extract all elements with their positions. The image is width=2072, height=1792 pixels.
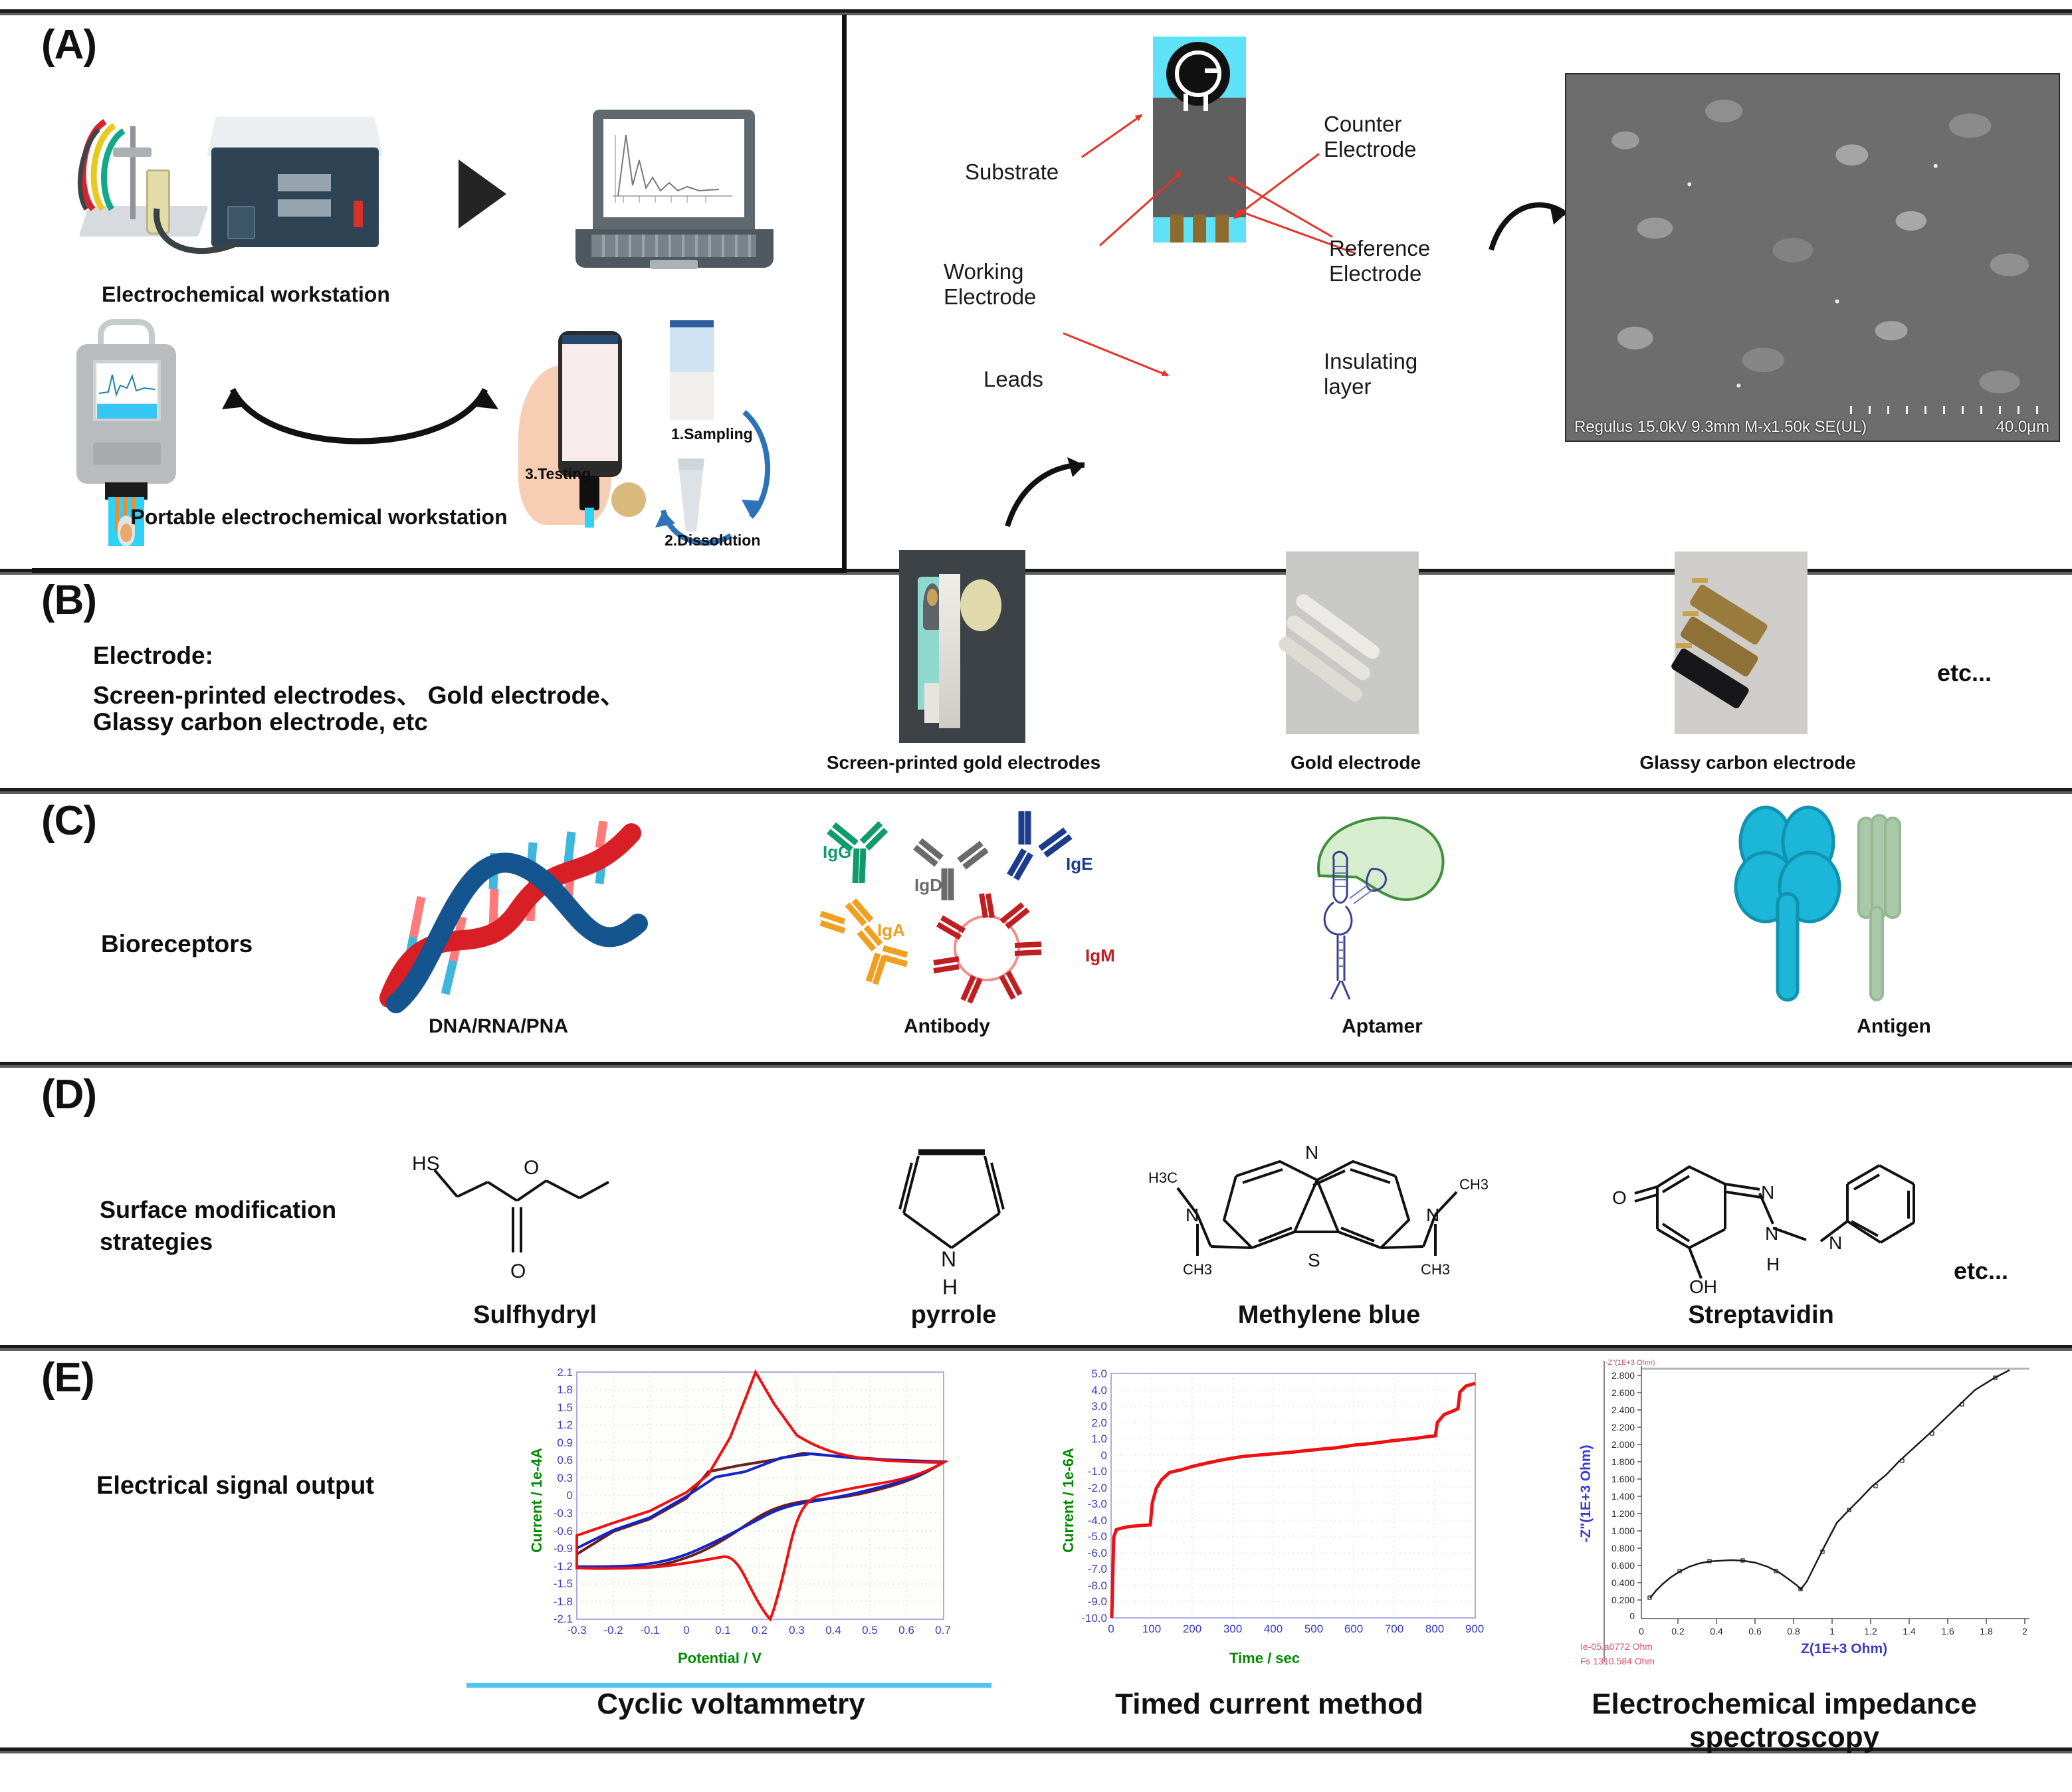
svg-text:-1.2: -1.2 [554,1560,573,1573]
cv-underline [466,1683,991,1688]
caption-streptavidin: Streptavidin [1641,1301,1881,1330]
svg-text:-0.3: -0.3 [567,1624,586,1637]
svg-text:CH3: CH3 [1459,1176,1489,1193]
svg-text:0.6: 0.6 [557,1454,573,1466]
svg-text:2.1: 2.1 [557,1366,573,1379]
svg-text:0.6: 0.6 [1748,1626,1762,1637]
curved-arrow-to-electrode-icon [1002,452,1095,532]
panel-a-letter: (A) [41,21,96,68]
svg-text:0.1: 0.1 [715,1624,731,1637]
electrode-cables-icon [73,110,166,216]
svg-text:-0.3: -0.3 [554,1507,573,1520]
svg-text:-1.5: -1.5 [554,1577,573,1590]
photo-screen-printed-electrodes [899,550,1025,743]
portable-workstation-caption: Portable electrochemical workstation [106,505,532,530]
svg-text:-6.0: -6.0 [1088,1547,1107,1559]
caption-sulfhydryl: Sulfhydryl [425,1301,645,1330]
sem-scale-bar-value: 40.0μm [1996,418,2049,437]
svg-text:O: O [524,1157,539,1179]
workstation-caption: Electrochemical workstation [80,282,412,307]
svg-text:0: 0 [683,1624,689,1637]
svg-text:1.000: 1.000 [1611,1526,1635,1536]
label-counter-electrode: Counter Electrode [1324,112,1416,162]
svg-text:N: N [1829,1233,1842,1253]
svg-text:0.800: 0.800 [1611,1543,1635,1553]
svg-text:H: H [942,1275,958,1296]
svg-text:-Z"(1E+3 Ohm): -Z"(1E+3 Ohm) [1606,1359,1655,1367]
connector-cable-icon [153,206,246,266]
svg-text:4.0: 4.0 [1091,1384,1107,1397]
cv-xlabel: Potential / V [678,1650,762,1667]
cycle-step-sampling: 1.Sampling [671,425,753,443]
svg-text:0: 0 [567,1489,573,1502]
svg-text:OH: OH [1689,1276,1717,1297]
svg-text:0.200: 0.200 [1611,1595,1635,1605]
svg-text:900: 900 [1465,1623,1484,1635]
svg-text:1.4: 1.4 [1903,1626,1916,1637]
svg-text:800: 800 [1425,1623,1444,1635]
svg-text:O: O [510,1260,526,1282]
panel-d-letter: (D) [41,1071,96,1118]
svg-text:200: 200 [1183,1623,1201,1635]
panel-b-line1: Screen-printed electrodes、 Gold electrod… [93,675,625,711]
caption-cyclic-voltammetry: Cyclic voltammetry [492,1688,970,1721]
caption-eis: Electrochemical impedance spectroscopy [1495,1688,2072,1754]
electrochemical-workstation-illustration [66,106,412,272]
svg-text:2.600: 2.600 [1611,1387,1635,1398]
svg-text:0.2: 0.2 [1671,1626,1685,1637]
svg-text:N: N [941,1247,956,1271]
svg-text:-7.0: -7.0 [1088,1563,1107,1575]
svg-text:N: N [1426,1205,1439,1225]
svg-text:400: 400 [1264,1623,1283,1635]
svg-text:1.2: 1.2 [1864,1626,1877,1637]
svg-text:0.3: 0.3 [789,1624,805,1637]
insulating-layer-region [1153,98,1246,217]
sem-scale-ticks [1850,406,2049,414]
eis-annotation-2: Fs 1310.584 Ohm [1580,1656,1655,1666]
svg-text:CH3: CH3 [1183,1261,1212,1278]
antibody-label-iga: IgA [877,920,905,941]
svg-text:-2.0: -2.0 [1088,1482,1107,1494]
svg-text:0.4: 0.4 [1710,1626,1723,1637]
svg-text:S: S [1308,1250,1320,1270]
svg-text:-1.0: -1.0 [1088,1465,1107,1478]
panel-b-line2: Glassy carbon electrode, etc [93,708,428,736]
flow-arrow-icon [459,159,506,229]
svg-text:0.4: 0.4 [825,1624,841,1637]
svg-text:5.0: 5.0 [1091,1367,1107,1380]
svg-text:0: 0 [1639,1626,1644,1637]
panel-b-letter: (B) [41,577,96,624]
svg-text:-5.0: -5.0 [1088,1530,1107,1543]
antibody-icons [787,801,1106,1007]
svg-text:1.0: 1.0 [1091,1433,1107,1445]
caption-antibody: Antibody [827,1015,1067,1038]
antibody-label-ige: IgE [1066,854,1092,874]
arrow-leads [1063,332,1168,376]
chart-eis: -Z"(1E+3 Ohm) 2.8002.6002.4002.200 2. [1575,1355,2033,1668]
label-insulating-layer: Insulating layer [1324,349,1417,399]
svg-text:1.200: 1.200 [1611,1508,1635,1519]
svg-text:3.0: 3.0 [1091,1400,1107,1413]
svg-text:-4.0: -4.0 [1088,1514,1107,1527]
svg-text:100: 100 [1142,1623,1161,1635]
svg-text:500: 500 [1304,1623,1323,1635]
svg-text:-0.6: -0.6 [554,1525,573,1538]
panel-d-etc: etc... [1954,1257,2008,1285]
panel-e-title: Electrical signal output [96,1472,374,1500]
photo-glassy-carbon-electrode [1675,551,1808,734]
panel-d-title-line2: strategies [100,1228,213,1256]
sem-image: Regulus 15.0kV 9.3mm M-x1.50k SE(UL) 40.… [1565,73,2060,442]
methylene-blue-structure-icon: N S N N H3C CH3 CH3 CH3 [1116,1142,1528,1301]
caption-timed-current-method: Timed current method [1037,1688,1502,1721]
svg-text:1: 1 [1829,1626,1835,1637]
chart-cyclic-voltammetry: Current / 1e-4A 2.11.81.51.2 0.90.60.30 … [518,1365,957,1671]
cycle-step-testing: 3.Testing [525,465,591,483]
curved-arrow-to-sem-icon [1487,193,1574,266]
svg-text:2.0: 2.0 [1091,1417,1107,1429]
panel-c-title: Bioreceptors [101,930,253,958]
svg-text:0.9: 0.9 [557,1437,573,1449]
antibody-label-igm: IgM [1085,946,1115,966]
pyrrole-structure-icon: N H [877,1130,1030,1296]
eis-annotation-1: Ie-05.a0772 Ohm [1580,1641,1653,1652]
svg-text:0.2: 0.2 [752,1624,768,1637]
divider-bc [0,788,2072,794]
svg-text:600: 600 [1344,1623,1363,1635]
screen-printed-electrode-diagram [1153,37,1246,243]
svg-text:1.600: 1.600 [1611,1474,1635,1484]
svg-text:0.400: 0.400 [1611,1577,1635,1588]
svg-text:0.6: 0.6 [898,1624,914,1637]
lead-2 [1193,215,1206,243]
antibody-label-igg: IgG [823,842,851,862]
svg-text:2: 2 [2022,1626,2027,1637]
caption-gold-electrode: Gold electrode [1236,752,1475,773]
sulfhydryl-structure-icon: HS O O [405,1153,718,1299]
svg-text:2.400: 2.400 [1611,1405,1635,1415]
svg-text:0: 0 [1629,1611,1635,1621]
caption-methylene-blue: Methylene blue [1196,1301,1462,1330]
antibody-label-igd: IgD [914,875,942,896]
svg-text:-9.0: -9.0 [1088,1595,1107,1608]
svg-text:N: N [1186,1205,1199,1225]
photo-gold-electrode [1286,551,1419,734]
svg-text:1.8: 1.8 [1980,1626,1993,1637]
svg-text:-1.8: -1.8 [554,1595,573,1608]
svg-text:-10.0: -10.0 [1081,1612,1107,1625]
svg-text:1.6: 1.6 [1941,1626,1954,1637]
svg-text:-0.1: -0.1 [640,1624,659,1637]
svg-text:-0.2: -0.2 [603,1624,623,1637]
signal-plot-icon [606,122,742,215]
arrow-substrate [1081,114,1142,158]
svg-text:0: 0 [1101,1449,1107,1462]
caption-screen-printed-gold-electrodes: Screen-printed gold electrodes [814,752,1113,773]
svg-text:CH3: CH3 [1421,1261,1450,1278]
label-working-electrode: Working Electrode [944,259,1036,310]
svg-text:N: N [1761,1182,1774,1203]
svg-text:0.600: 0.600 [1611,1560,1635,1571]
panel-b-heading: Electrode: [93,642,213,670]
streptavidin-structure-icon: O N N H OH N [1595,1143,1967,1302]
svg-text:300: 300 [1223,1623,1242,1635]
svg-text:-3.0: -3.0 [1088,1498,1107,1510]
caption-pyrrole: pyrrole [864,1301,1043,1330]
aptamer-icon [1293,803,1492,1015]
svg-text:HS: HS [412,1153,440,1175]
caption-aptamer: Aptamer [1283,1015,1482,1038]
svg-text:0.3: 0.3 [557,1472,573,1484]
panel-c-letter: (C) [41,797,96,845]
chart-timed-current: Current / 1e-6A 5.04.03.02.0 1.00-1.0-2.… [1050,1365,1489,1671]
caption-dna-rna-pna: DNA/RNA/PNA [372,1015,625,1038]
svg-text:0.8: 0.8 [1787,1626,1800,1637]
svg-text:N: N [1765,1223,1778,1244]
antigen-icon [1724,801,1911,1013]
svg-text:-8.0: -8.0 [1088,1579,1107,1592]
svg-text:0.7: 0.7 [935,1624,951,1637]
laptop-illustration [565,110,784,276]
caption-glassy-carbon-electrode: Glassy carbon electrode [1608,752,1887,773]
lead-1 [1170,215,1184,243]
label-substrate: Substrate [965,159,1059,185]
svg-text:O: O [1612,1187,1627,1208]
cycle-step-dissolution: 2.Dissolution [665,532,760,549]
svg-text:N: N [1305,1142,1318,1163]
svg-text:H3C: H3C [1148,1169,1178,1186]
svg-text:2.800: 2.800 [1611,1370,1635,1381]
panel-e-letter: (E) [41,1354,94,1401]
svg-text:2.000: 2.000 [1611,1439,1635,1450]
caption-antigen: Antigen [1794,1015,1994,1038]
portable-signal-icon [98,365,156,401]
svg-text:1.2: 1.2 [557,1419,573,1431]
svg-text:1.8: 1.8 [557,1383,573,1396]
divider-cd [0,1062,2072,1068]
label-leads: Leads [984,367,1043,392]
svg-text:700: 700 [1385,1623,1403,1635]
divider-de [0,1345,2072,1351]
svg-text:0.5: 0.5 [862,1624,878,1637]
svg-text:2.200: 2.200 [1611,1422,1635,1433]
panel-b-etc: etc... [1937,659,1992,687]
dna-helix-icon [352,804,671,1023]
svg-text:-0.9: -0.9 [554,1542,573,1555]
svg-text:1.800: 1.800 [1611,1456,1635,1467]
double-arrow-icon [213,384,505,470]
eis-xlabel: Z(1E+3 Ohm) [1801,1641,1887,1657]
svg-text:1.400: 1.400 [1611,1491,1635,1502]
lead-3 [1215,215,1229,243]
svg-text:0: 0 [1108,1623,1114,1635]
electrode-ring-icon [1166,42,1230,106]
svg-text:1.5: 1.5 [557,1401,573,1414]
working-electrode-ring [1175,50,1221,97]
amp-xlabel: Time / sec [1229,1650,1300,1667]
label-reference-electrode: Reference Electrode [1329,236,1430,286]
svg-text:H: H [1766,1254,1780,1274]
sem-info-text: Regulus 15.0kV 9.3mm M-x1.50k SE(UL) [1574,418,1867,437]
panel-d-title-line1: Surface modification [100,1196,336,1224]
